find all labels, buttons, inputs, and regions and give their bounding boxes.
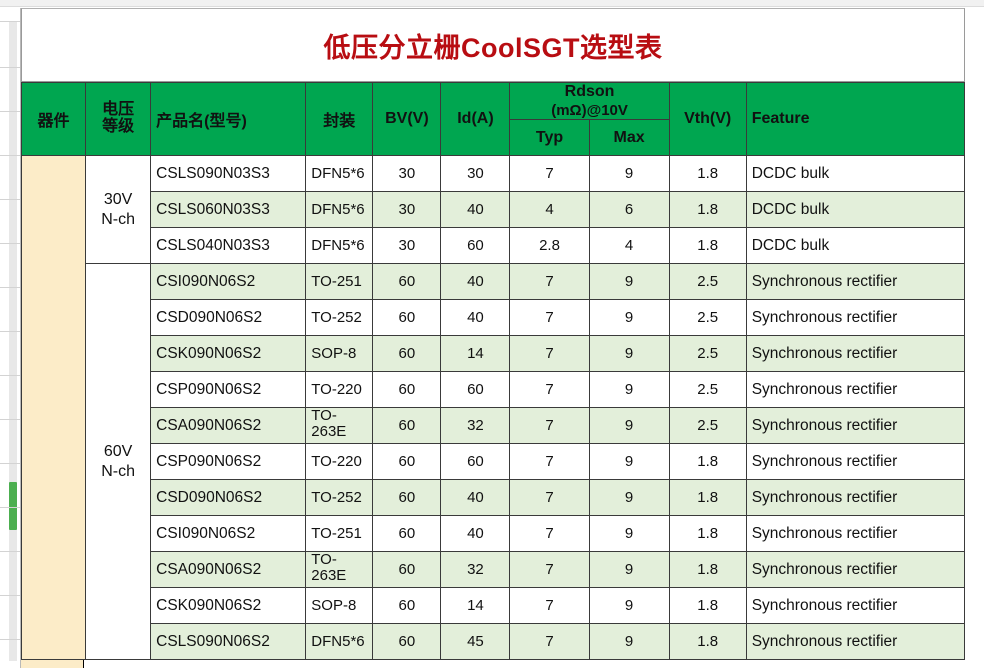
cell-id[interactable]: 40 — [441, 480, 510, 516]
cell-vth[interactable]: 1.8 — [669, 156, 746, 192]
cell-model[interactable]: CSP090N06S2 — [151, 372, 306, 408]
cell-vth[interactable]: 1.8 — [669, 444, 746, 480]
cell-bv[interactable]: 60 — [373, 624, 441, 660]
row-header-divider — [0, 331, 20, 332]
cell-feature[interactable]: Synchronous rectifier — [746, 300, 964, 336]
header-device[interactable]: 器件 — [22, 83, 86, 156]
row-header-divider — [0, 463, 20, 464]
cell-model[interactable]: CSLS090N06S2 — [151, 624, 306, 660]
row-header-divider — [0, 111, 20, 112]
cell-rdson-max[interactable]: 9 — [589, 336, 669, 372]
cell-rdson-typ[interactable]: 7 — [510, 300, 589, 336]
header-voltage-class[interactable]: 电压 等级 — [86, 83, 151, 156]
cell-package[interactable]: TO-252 — [306, 300, 373, 336]
row-header-divider — [0, 287, 20, 288]
row-header-divider — [0, 199, 20, 200]
voltage-class-line1: 60V — [104, 443, 132, 460]
vertical-scrollbar-thumb[interactable] — [9, 482, 17, 530]
cell-id[interactable]: 45 — [441, 624, 510, 660]
cell-id[interactable]: 40 — [441, 300, 510, 336]
header-feature[interactable]: Feature — [746, 83, 964, 156]
cell-feature[interactable]: Synchronous rectifier — [746, 444, 964, 480]
cell-vth[interactable]: 1.8 — [669, 192, 746, 228]
header-vth[interactable]: Vth(V) — [669, 83, 746, 156]
table-body: 30VN-chCSLS090N03S3DFN5*63030791.8DCDC b… — [22, 156, 965, 660]
header-rdson-label: Rdson — [565, 83, 615, 100]
cell-feature[interactable]: DCDC bulk — [746, 192, 964, 228]
header-row-1: 器件 电压 等级 产品名(型号) 封装 BV(V) Id(A) Rdson (m… — [22, 83, 965, 120]
cell-id[interactable]: 40 — [441, 264, 510, 300]
cell-device[interactable] — [22, 156, 86, 660]
cell-package[interactable]: TO-220 — [306, 372, 373, 408]
voltage-class-line1: 30V — [104, 191, 132, 208]
cell-model[interactable]: CSI090N06S2 — [151, 516, 306, 552]
cell-package[interactable]: DFN5*6 — [306, 156, 373, 192]
cell-package[interactable]: TO-263E — [306, 408, 373, 444]
table-row[interactable]: CSI090N06S2TO-2516040791.8Synchronous re… — [22, 516, 965, 552]
header-id[interactable]: Id(A) — [441, 83, 510, 156]
cell-model[interactable]: CSLS090N03S3 — [151, 156, 306, 192]
cell-bv[interactable]: 30 — [373, 156, 441, 192]
cell-vth[interactable]: 2.5 — [669, 408, 746, 444]
header-rdson[interactable]: Rdson (mΩ)@10V — [510, 83, 669, 120]
cell-rdson-typ[interactable]: 7 — [510, 156, 589, 192]
cell-feature[interactable]: Synchronous rectifier — [746, 480, 964, 516]
title-band: 低压分立栅CoolSGT选型表 — [21, 8, 965, 82]
header-rdson-unit: (mΩ)@10V — [515, 102, 663, 119]
package-line2: 263E — [311, 423, 346, 440]
cell-id[interactable]: 40 — [441, 516, 510, 552]
cell-id[interactable]: 32 — [441, 552, 510, 588]
spreadsheet-window: 低压分立栅CoolSGT选型表 器件 电 — [0, 0, 984, 668]
voltage-class-line2: N-ch — [101, 211, 135, 228]
cell-rdson-max[interactable]: 9 — [589, 516, 669, 552]
row-header-divider — [0, 375, 20, 376]
cell-feature[interactable]: Synchronous rectifier — [746, 624, 964, 660]
cell-rdson-max[interactable]: 9 — [589, 372, 669, 408]
cell-bv[interactable]: 60 — [373, 516, 441, 552]
row-header-divider — [0, 243, 20, 244]
cell-rdson-max[interactable]: 9 — [589, 444, 669, 480]
table-row[interactable]: CSLS060N03S3DFN5*63040461.8DCDC bulk — [22, 192, 965, 228]
table-row[interactable]: CSP090N06S2TO-2206060792.5Synchronous re… — [22, 372, 965, 408]
cell-model[interactable]: CSD090N06S2 — [151, 480, 306, 516]
cell-rdson-max[interactable]: 9 — [589, 264, 669, 300]
cell-vth[interactable]: 2.5 — [669, 264, 746, 300]
cell-voltage-class[interactable]: 30VN-ch — [86, 156, 151, 264]
sheet-area: 低压分立栅CoolSGT选型表 器件 电 — [20, 8, 984, 668]
cell-bv[interactable]: 60 — [373, 408, 441, 444]
cell-feature[interactable]: DCDC bulk — [746, 228, 964, 264]
cell-rdson-typ[interactable]: 7 — [510, 444, 589, 480]
cell-package[interactable]: TO-220 — [306, 444, 373, 480]
cell-rdson-max[interactable]: 9 — [589, 408, 669, 444]
cell-rdson-max[interactable]: 9 — [589, 624, 669, 660]
cell-package[interactable]: SOP-8 — [306, 336, 373, 372]
window-top-strip — [0, 0, 984, 7]
cell-bv[interactable]: 30 — [373, 192, 441, 228]
cell-id[interactable]: 40 — [441, 192, 510, 228]
table-row[interactable]: 60VN-chCSI090N06S2TO-2516040792.5Synchro… — [22, 264, 965, 300]
cell-package[interactable]: TO-252 — [306, 480, 373, 516]
cell-package[interactable]: TO-263E — [306, 552, 373, 588]
header-rdson-max[interactable]: Max — [589, 120, 669, 156]
header-product-name[interactable]: 产品名(型号) — [151, 83, 306, 156]
cell-vth[interactable]: 1.8 — [669, 588, 746, 624]
cell-id[interactable]: 60 — [441, 444, 510, 480]
cell-package[interactable]: TO-251 — [306, 516, 373, 552]
cell-package[interactable]: DFN5*6 — [306, 228, 373, 264]
cell-model[interactable]: CSLS060N03S3 — [151, 192, 306, 228]
cell-rdson-typ[interactable]: 2.8 — [510, 228, 589, 264]
header-bv[interactable]: BV(V) — [373, 83, 441, 156]
row-header-divider — [0, 21, 20, 22]
cell-vth[interactable]: 2.5 — [669, 372, 746, 408]
table-row[interactable]: CSP090N06S2TO-2206060791.8Synchronous re… — [22, 444, 965, 480]
table-row[interactable]: CSLS040N03S3DFN5*630602.841.8DCDC bulk — [22, 228, 965, 264]
cell-model[interactable]: CSK090N06S2 — [151, 588, 306, 624]
cell-bv[interactable]: 60 — [373, 552, 441, 588]
package-line1: TO- — [311, 408, 337, 425]
cell-rdson-max[interactable]: 9 — [589, 480, 669, 516]
cell-rdson-max[interactable]: 9 — [589, 156, 669, 192]
cell-model[interactable]: CSLS040N03S3 — [151, 228, 306, 264]
cell-id[interactable]: 14 — [441, 336, 510, 372]
header-rdson-typ[interactable]: Typ — [510, 120, 589, 156]
table-row[interactable]: CSD090N06S2TO-2526040792.5Synchronous re… — [22, 300, 965, 336]
cell-model[interactable]: CSA090N06S2 — [151, 552, 306, 588]
cell-bv[interactable]: 60 — [373, 372, 441, 408]
cell-bv[interactable]: 30 — [373, 228, 441, 264]
row-header-divider — [0, 551, 20, 552]
row-header-divider — [0, 507, 20, 508]
table-row[interactable]: CSA090N06S2TO-263E6032792.5Synchronous r… — [22, 408, 965, 444]
cell-bv[interactable]: 60 — [373, 264, 441, 300]
cell-vth[interactable]: 1.8 — [669, 516, 746, 552]
cell-package[interactable]: DFN5*6 — [306, 624, 373, 660]
cell-vth[interactable]: 1.8 — [669, 228, 746, 264]
cell-rdson-typ[interactable]: 7 — [510, 264, 589, 300]
cell-rdson-max[interactable]: 4 — [589, 228, 669, 264]
cell-rdson-typ[interactable]: 7 — [510, 552, 589, 588]
selection-table: 器件 电压 等级 产品名(型号) 封装 BV(V) Id(A) Rdson (m… — [21, 82, 965, 660]
cell-package[interactable]: DFN5*6 — [306, 192, 373, 228]
cell-vth[interactable]: 1.8 — [669, 480, 746, 516]
cell-feature[interactable]: DCDC bulk — [746, 156, 964, 192]
cell-feature[interactable]: Synchronous rectifier — [746, 264, 964, 300]
cell-bv[interactable]: 60 — [373, 444, 441, 480]
table-row[interactable]: CSD090N06S2TO-2526040791.8Synchronous re… — [22, 480, 965, 516]
cell-bv[interactable]: 60 — [373, 300, 441, 336]
cell-model[interactable]: CSI090N06S2 — [151, 264, 306, 300]
cell-feature[interactable]: Synchronous rectifier — [746, 408, 964, 444]
cell-model[interactable]: CSP090N06S2 — [151, 444, 306, 480]
row-header-divider — [0, 67, 20, 68]
cell-feature[interactable]: Synchronous rectifier — [746, 588, 964, 624]
cell-rdson-max[interactable]: 9 — [589, 300, 669, 336]
cell-rdson-typ[interactable]: 7 — [510, 516, 589, 552]
cell-id[interactable]: 14 — [441, 588, 510, 624]
header-package[interactable]: 封装 — [306, 83, 373, 156]
table-row[interactable]: CSLS090N06S2DFN5*66045791.8Synchronous r… — [22, 624, 965, 660]
cell-id[interactable]: 60 — [441, 372, 510, 408]
header-voltage-class-line2: 等级 — [102, 118, 134, 135]
cell-rdson-typ[interactable]: 7 — [510, 588, 589, 624]
row-header-divider — [0, 155, 20, 156]
cell-rdson-max[interactable]: 6 — [589, 192, 669, 228]
row-header-gutter — [0, 7, 20, 668]
voltage-class-line2: N-ch — [101, 463, 135, 480]
cell-feature[interactable]: Synchronous rectifier — [746, 336, 964, 372]
cell-voltage-class[interactable]: 60VN-ch — [86, 264, 151, 660]
package-line2: 263E — [311, 567, 346, 584]
cell-vth[interactable]: 1.8 — [669, 624, 746, 660]
cell-package[interactable]: SOP-8 — [306, 588, 373, 624]
cell-bv[interactable]: 60 — [373, 336, 441, 372]
cell-id[interactable]: 30 — [441, 156, 510, 192]
cell-vth[interactable]: 2.5 — [669, 300, 746, 336]
cell-vth[interactable]: 1.8 — [669, 552, 746, 588]
cell-id[interactable]: 32 — [441, 408, 510, 444]
table-row[interactable]: 30VN-chCSLS090N03S3DFN5*63030791.8DCDC b… — [22, 156, 965, 192]
cell-rdson-typ[interactable]: 7 — [510, 624, 589, 660]
cell-vth[interactable]: 2.5 — [669, 336, 746, 372]
cell-model[interactable]: CSD090N06S2 — [151, 300, 306, 336]
cell-bv[interactable]: 60 — [373, 480, 441, 516]
table-header: 器件 电压 等级 产品名(型号) 封装 BV(V) Id(A) Rdson (m… — [22, 83, 965, 156]
cell-rdson-max[interactable]: 9 — [589, 552, 669, 588]
row-header-divider — [0, 639, 20, 640]
cell-bv[interactable]: 60 — [373, 588, 441, 624]
cell-rdson-typ[interactable]: 7 — [510, 408, 589, 444]
row-header-divider — [0, 595, 20, 596]
cell-rdson-typ[interactable]: 7 — [510, 336, 589, 372]
cell-model[interactable]: CSA090N06S2 — [151, 408, 306, 444]
cell-rdson-typ[interactable]: 7 — [510, 372, 589, 408]
cell-feature[interactable]: Synchronous rectifier — [746, 516, 964, 552]
vertical-scrollbar-track[interactable] — [9, 21, 17, 661]
header-voltage-class-line1: 电压 — [102, 101, 134, 118]
cell-feature[interactable]: Synchronous rectifier — [746, 552, 964, 588]
cell-rdson-typ[interactable]: 7 — [510, 480, 589, 516]
cell-package[interactable]: TO-251 — [306, 264, 373, 300]
row-header-divider — [0, 419, 20, 420]
cell-feature[interactable]: Synchronous rectifier — [746, 372, 964, 408]
package-line1: TO- — [311, 552, 337, 569]
cell-rdson-typ[interactable]: 4 — [510, 192, 589, 228]
cell-id[interactable]: 60 — [441, 228, 510, 264]
page-title: 低压分立栅CoolSGT选型表 — [324, 26, 663, 65]
table-row[interactable]: CSA090N06S2TO-263E6032791.8Synchronous r… — [22, 552, 965, 588]
cell-model[interactable]: CSK090N06S2 — [151, 336, 306, 372]
cell-rdson-max[interactable]: 9 — [589, 588, 669, 624]
table-row[interactable]: CSK090N06S2SOP-86014792.5Synchronous rec… — [22, 336, 965, 372]
table-row[interactable]: CSK090N06S2SOP-86014791.8Synchronous rec… — [22, 588, 965, 624]
